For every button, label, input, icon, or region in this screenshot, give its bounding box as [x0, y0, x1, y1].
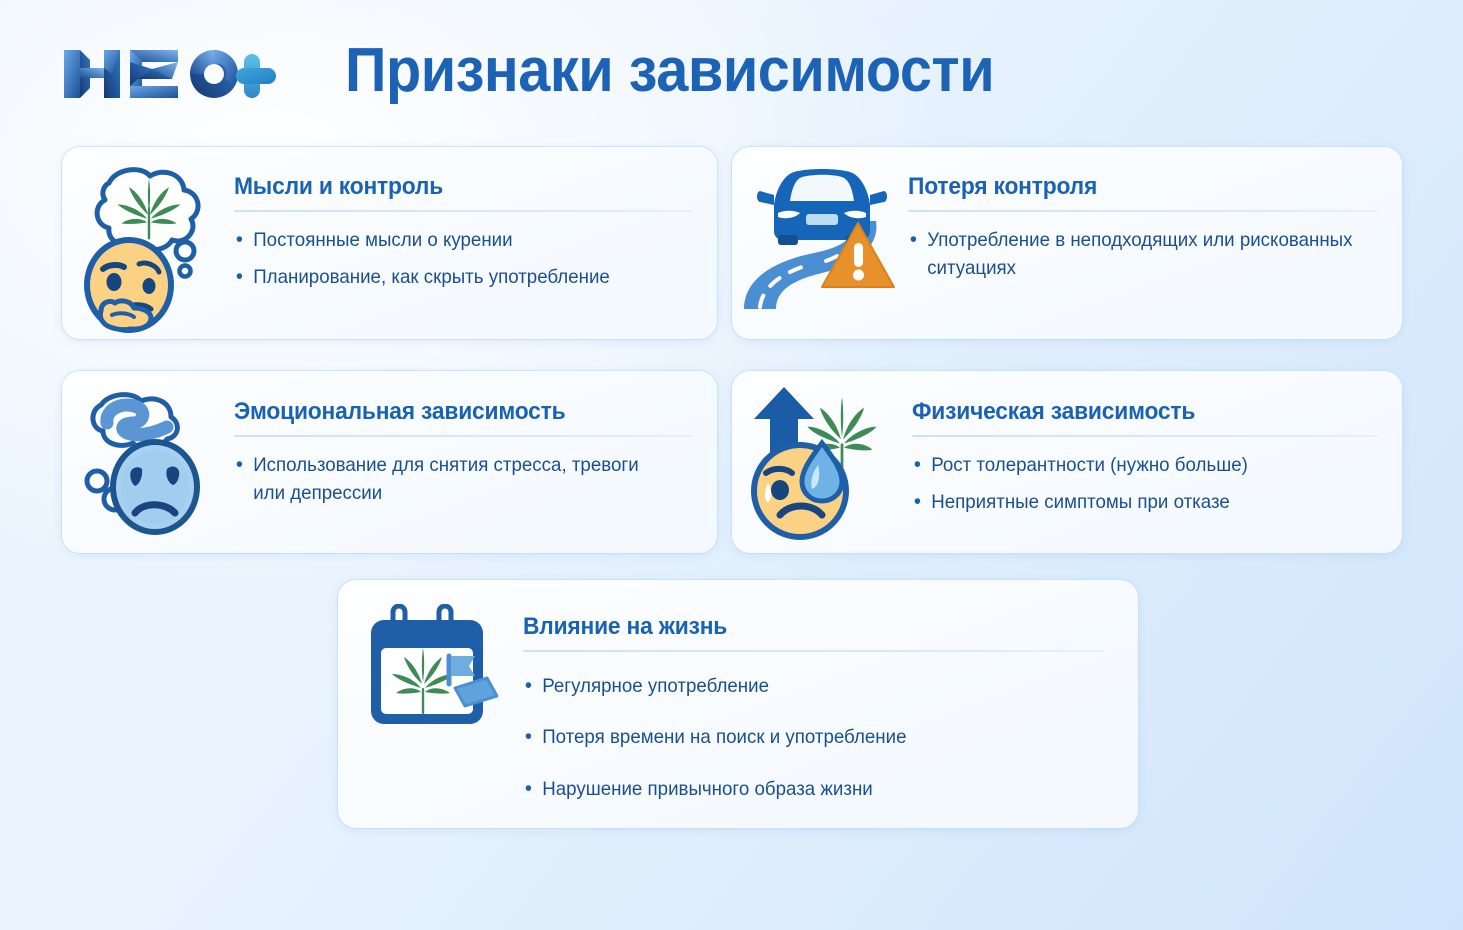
card-heading: Эмоциональная зависимость [234, 398, 670, 426]
card-impact-on-life: Влияние на жизнь Регулярное употребление… [338, 580, 1138, 828]
list-item: Употребление в неподходящих или рискован… [908, 226, 1359, 283]
list-item: Постоянные мысли о курении [234, 226, 675, 254]
heading-divider [234, 210, 693, 212]
card-thoughts-and-control: Мысли и контроль Постоянные мысли о куре… [62, 147, 717, 339]
calendar-cannabis-leaf-icon [338, 580, 523, 729]
list-item: Нарушение привычного образа жизни [523, 775, 1081, 803]
page-header: Признаки зависимости [0, 0, 1463, 140]
list-item: Потеря времени на поиск и употребление [523, 723, 1081, 751]
heading-divider [523, 650, 1104, 652]
card-heading: Мысли и контроль [234, 173, 670, 201]
bullet-list: Употребление в неподходящих или рискован… [908, 226, 1378, 283]
card-heading: Потеря контроля [908, 173, 1355, 201]
neo-plus-logo [60, 44, 280, 106]
card-emotional-dependence: Эмоциональная зависимость Использование … [62, 371, 717, 553]
car-road-warning-triangle-icon [732, 147, 900, 311]
list-item: Планирование, как скрыть употребление [234, 263, 675, 291]
bullet-list: Постоянные мысли о курении Планирование,… [234, 226, 693, 292]
bullet-list: Регулярное употребление Потеря времени н… [523, 672, 1104, 803]
card-loss-of-control: Потеря контроля Употребление в неподходя… [732, 147, 1402, 339]
sad-blue-face-thought-cloud-icon [62, 371, 222, 539]
list-item: Регулярное употребление [523, 672, 1081, 700]
heading-divider [234, 435, 693, 437]
list-item: Неприятные симптомы при отказе [912, 488, 1359, 516]
bullet-list: Рост толерантности (нужно больше) Неприя… [912, 451, 1378, 517]
thinking-face-cannabis-thought-bubble-icon [62, 147, 222, 337]
page-title: Признаки зависимости [345, 40, 994, 102]
heading-divider [908, 210, 1378, 212]
card-heading: Влияние на жизнь [523, 613, 1075, 641]
list-item: Использование для снятия стресса, тревог… [234, 451, 675, 508]
card-heading: Физическая зависимость [912, 398, 1355, 426]
card-physical-dependence: Физическая зависимость Рост толерантност… [732, 371, 1402, 553]
heading-divider [912, 435, 1378, 437]
anxious-face-sweat-arrow-up-cannabis-icon [732, 371, 904, 541]
list-item: Рост толерантности (нужно больше) [912, 451, 1359, 479]
bullet-list: Использование для снятия стресса, тревог… [234, 451, 693, 508]
